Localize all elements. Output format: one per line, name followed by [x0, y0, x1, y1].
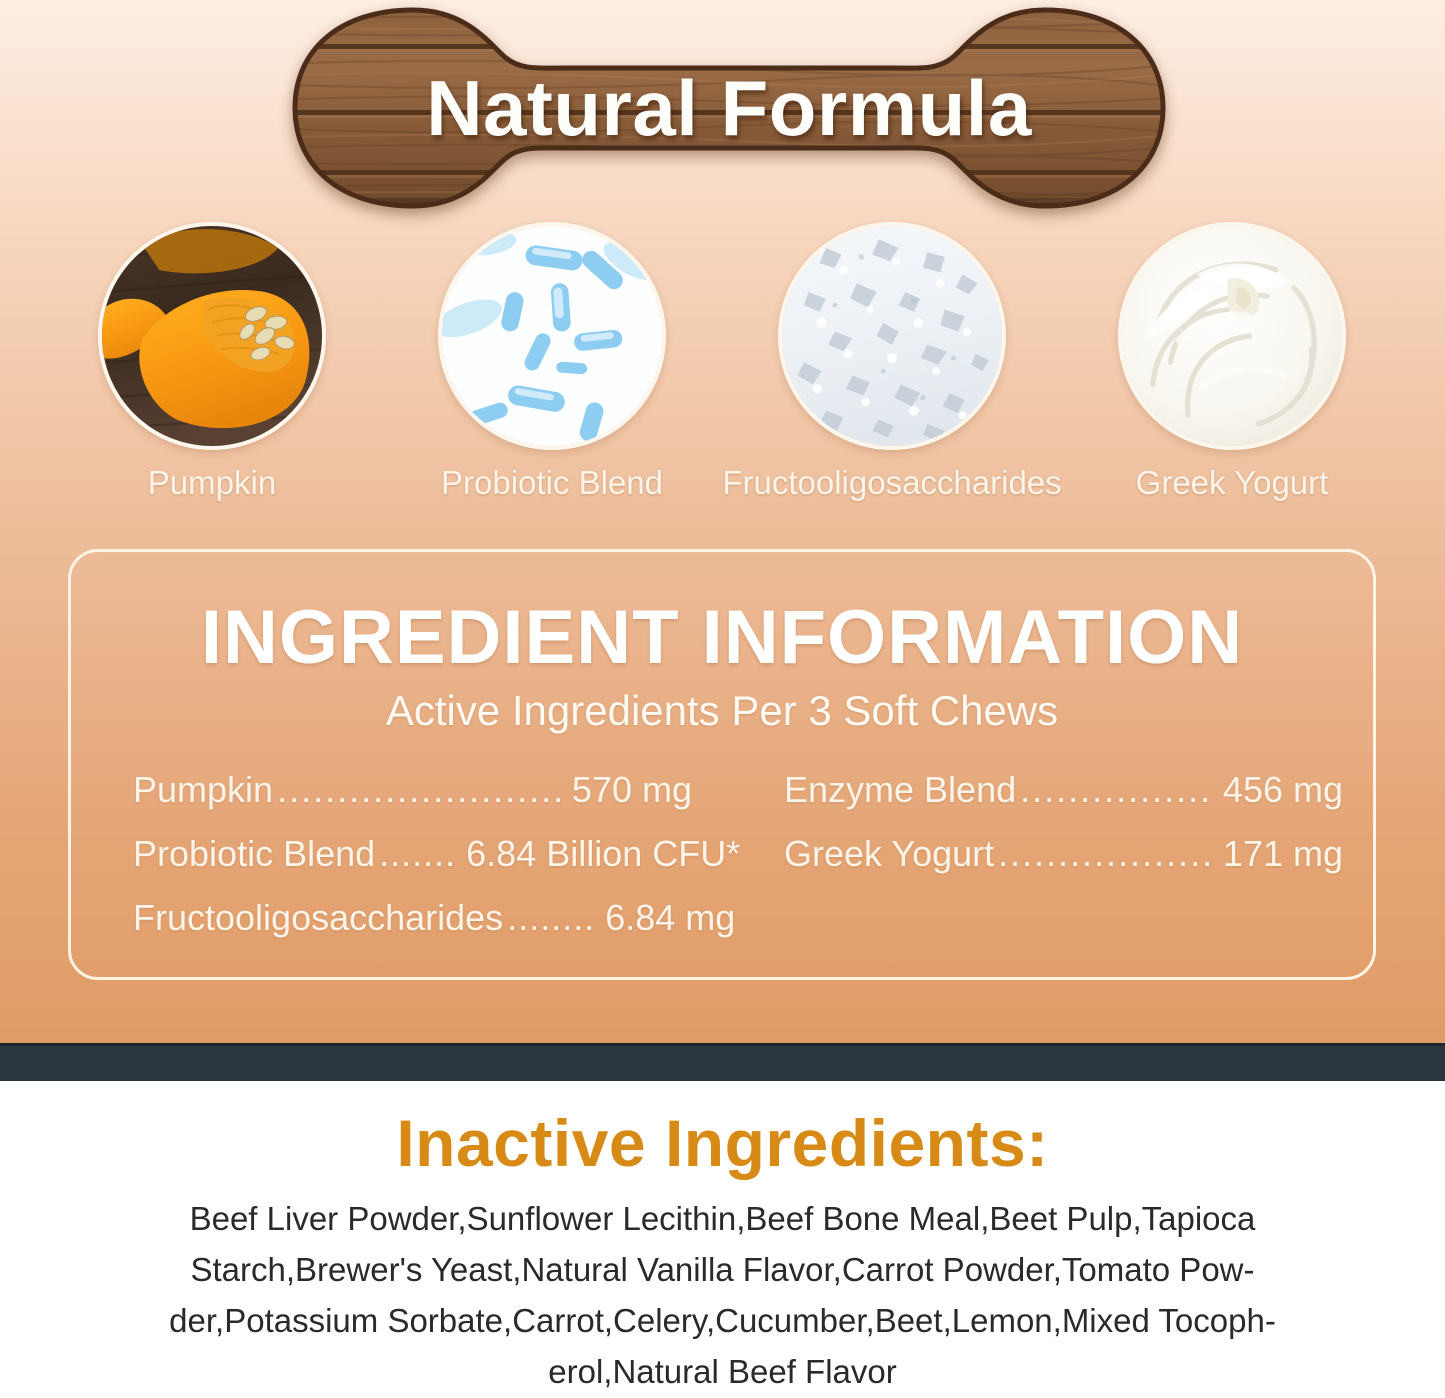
dot-leader: ..........................	[1020, 772, 1213, 808]
ingredient-circle-probiotic-blend: Probiotic Blend	[402, 222, 702, 502]
dot-leader: .......	[379, 836, 456, 872]
ingredient-name: Greek Yogurt	[784, 836, 994, 872]
sign-title: Natural Formula	[263, 2, 1195, 214]
ingredient-row: Pumpkin ................................…	[133, 772, 692, 808]
circle-label: Probiotic Blend	[441, 464, 663, 502]
dot-leader: ............................	[998, 836, 1213, 872]
natural-formula-section: Natural Formula	[0, 0, 1445, 1043]
pumpkin-photo-icon	[98, 222, 326, 450]
ingredient-row: Fructooligosaccharides ........ 6.84 mg	[133, 900, 692, 936]
inactive-line: Beef Liver Powder,Sunflower Lecithin,Bee…	[118, 1193, 1327, 1244]
yogurt-swirl-icon	[1118, 222, 1346, 450]
yogurt-svg	[1122, 226, 1342, 446]
ingredient-circle-pumpkin: Pumpkin	[62, 222, 362, 502]
inactive-line: der,Potassium Sorbate,Carrot,Celery,Cucu…	[118, 1295, 1327, 1346]
ingredient-amount: 456 mg	[1217, 772, 1343, 808]
circle-label: Fructooligosaccharides	[722, 464, 1061, 502]
ingredient-name: Probiotic Blend	[133, 836, 375, 872]
section-divider	[0, 1043, 1445, 1081]
ingredient-amount: 6.84 Billion CFU*	[460, 836, 740, 872]
ingredient-amount: 570 mg	[566, 772, 692, 808]
active-ingredients-rows: Pumpkin ................................…	[71, 772, 1373, 964]
white-crystal-powder-icon	[778, 222, 1006, 450]
circle-label: Greek Yogurt	[1136, 464, 1329, 502]
ingredients-left-column: Pumpkin ................................…	[71, 772, 722, 964]
probiotic-bacteria-icon	[438, 222, 666, 450]
ingredient-circle-greek-yogurt: Greek Yogurt	[1082, 222, 1382, 502]
crystal-powder-svg	[782, 226, 1002, 446]
inactive-line: Starch,Brewer's Yeast,Natural Vanilla Fl…	[118, 1244, 1327, 1295]
ingredients-right-column: Enzyme Blend .......................... …	[722, 772, 1373, 964]
ingredient-row: Greek Yogurt ...........................…	[784, 836, 1343, 872]
product-infographic: Natural Formula	[0, 0, 1445, 1394]
wooden-bone-sign: Natural Formula	[263, 2, 1195, 214]
probiotic-svg	[442, 226, 662, 446]
panel-title: INGREDIENT INFORMATION	[71, 594, 1373, 681]
ingredient-information-panel: INGREDIENT INFORMATION Active Ingredient…	[68, 549, 1376, 980]
ingredient-circles-row: Pumpkin	[62, 222, 1382, 512]
inactive-ingredients-section: Inactive Ingredients: Beef Liver Powder,…	[0, 1081, 1445, 1394]
ingredient-row: Enzyme Blend .......................... …	[784, 772, 1343, 808]
ingredient-name: Fructooligosaccharides	[133, 900, 503, 936]
pumpkin-svg	[102, 226, 322, 446]
inactive-line: erol,Natural Beef Flavor	[118, 1346, 1327, 1397]
ingredient-circle-fructooligosaccharides: Fructooligosaccharides	[742, 222, 1042, 502]
panel-subtitle: Active Ingredients Per 3 Soft Chews	[71, 687, 1373, 735]
inactive-ingredients-body: Beef Liver Powder,Sunflower Lecithin,Bee…	[0, 1193, 1445, 1398]
dot-leader: ..................................	[277, 772, 562, 808]
circle-label: Pumpkin	[148, 464, 276, 502]
inactive-ingredients-title: Inactive Ingredients:	[0, 1105, 1445, 1181]
ingredient-amount: 6.84 mg	[599, 900, 735, 936]
dot-leader: ........	[507, 900, 595, 936]
ingredient-name: Enzyme Blend	[784, 772, 1016, 808]
ingredient-amount: 171 mg	[1217, 836, 1343, 872]
ingredient-row: Probiotic Blend ....... 6.84 Billion CFU…	[133, 836, 692, 872]
ingredient-name: Pumpkin	[133, 772, 273, 808]
